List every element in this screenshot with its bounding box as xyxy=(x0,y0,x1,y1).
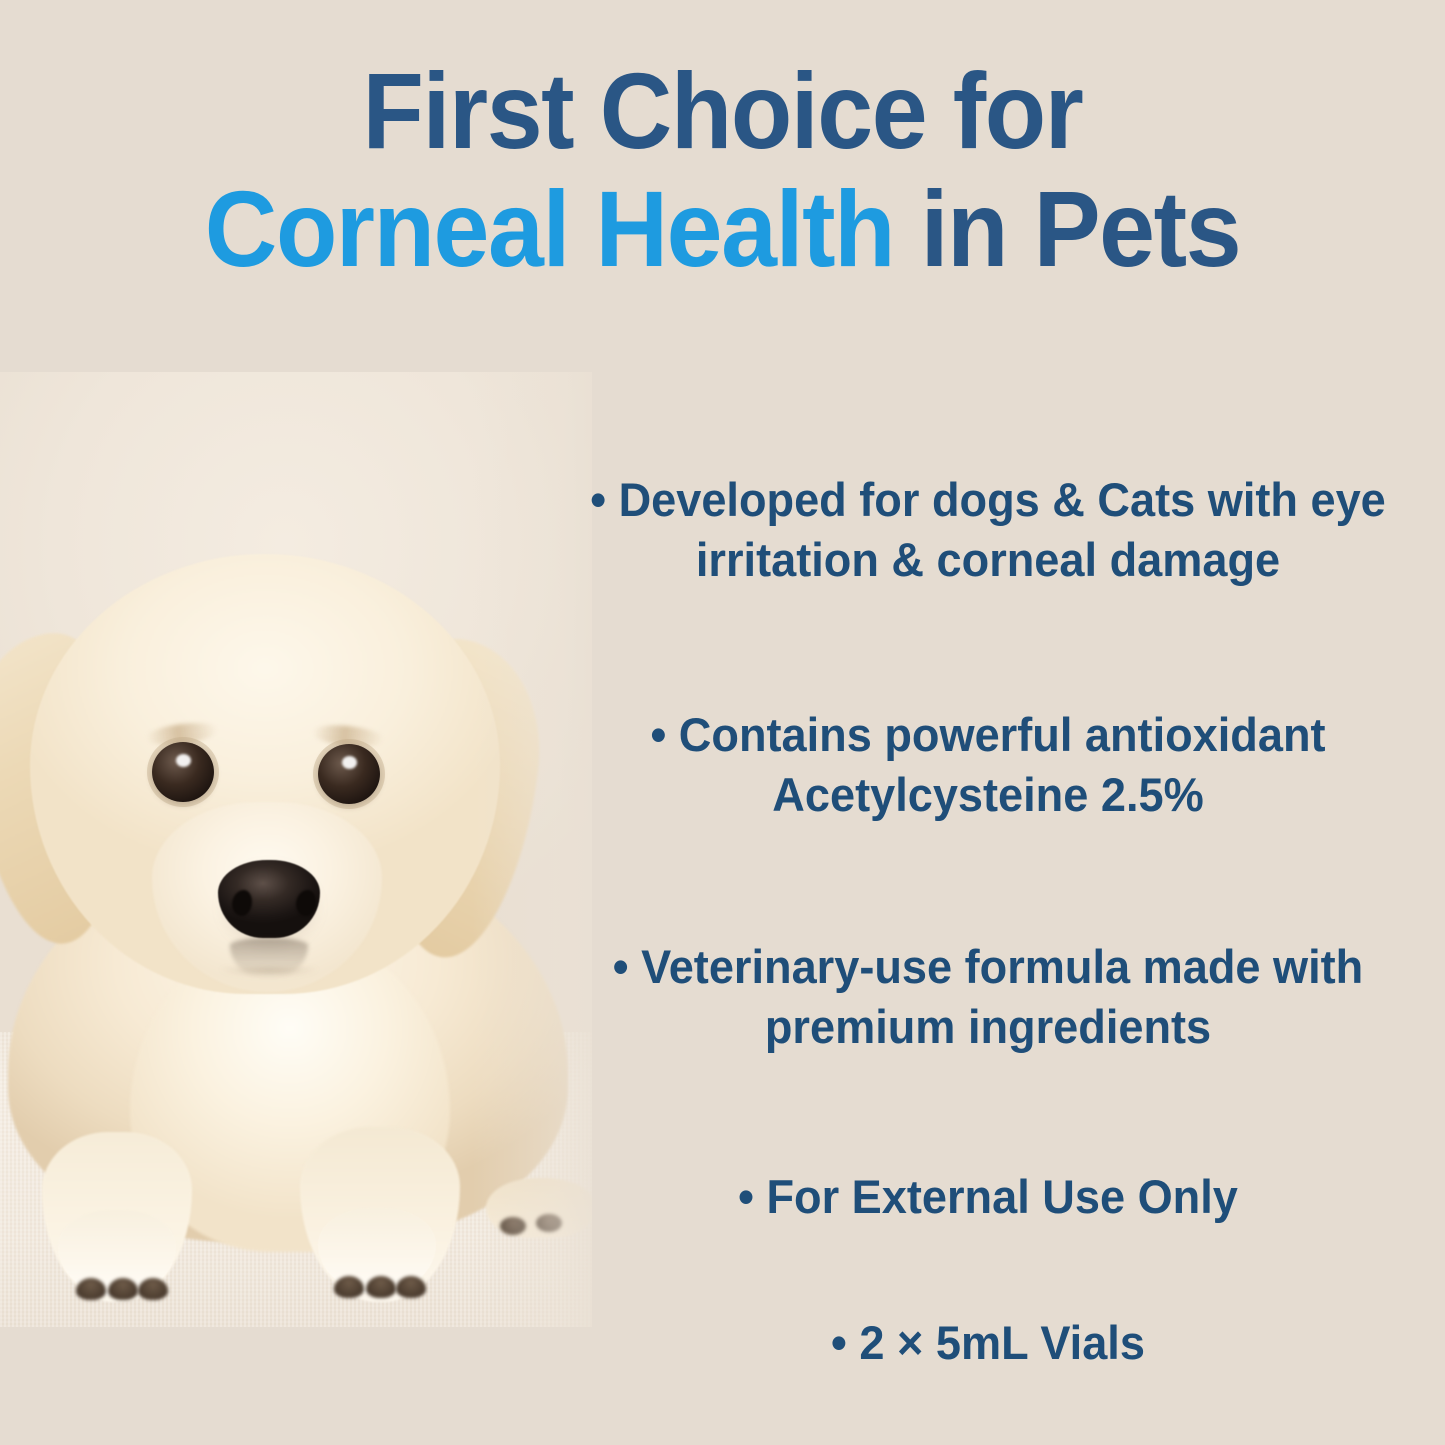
puppy-lip-line xyxy=(196,968,342,994)
paw-toe xyxy=(366,1276,396,1298)
paw-toe xyxy=(108,1278,138,1300)
list-item: • Contains powerful antioxidant Acetylcy… xyxy=(566,705,1411,825)
puppy-hind-toe-1 xyxy=(500,1217,526,1235)
title-line-2: Corneal Health in Pets xyxy=(51,170,1395,288)
puppy-right-paw xyxy=(318,1208,436,1294)
list-item-label: 2 × 5mL Vials xyxy=(859,1316,1145,1369)
bullet-marker: • xyxy=(613,940,629,993)
bullet-marker: • xyxy=(650,708,666,761)
bullet-marker: • xyxy=(590,473,606,526)
list-item-label: Contains powerful antioxidant Acetylcyst… xyxy=(679,708,1326,821)
puppy-photo xyxy=(0,372,592,1327)
puppy-left-eye xyxy=(152,742,214,802)
list-item: • 2 × 5mL Vials xyxy=(566,1313,1411,1373)
paw-toe xyxy=(76,1278,106,1300)
eye-glint xyxy=(176,754,191,767)
paw-toe xyxy=(138,1278,168,1300)
list-item-label: For External Use Only xyxy=(766,1170,1237,1223)
paw-toe xyxy=(396,1276,426,1298)
list-item-label: Developed for dogs & Cats with eye irrit… xyxy=(619,473,1386,586)
puppy-right-eye xyxy=(318,744,380,804)
title-line-1: First Choice for xyxy=(51,52,1395,170)
feature-list: • Developed for dogs & Cats with eye irr… xyxy=(548,470,1428,1373)
list-item: • Developed for dogs & Cats with eye irr… xyxy=(566,470,1411,590)
eye-glint xyxy=(342,756,357,769)
title-highlight: Corneal Health xyxy=(205,168,894,289)
page-title: First Choice for Corneal Health in Pets xyxy=(0,52,1445,288)
list-item: • Veterinary-use formula made with premi… xyxy=(566,937,1411,1057)
list-item: • For External Use Only xyxy=(566,1167,1411,1227)
bullet-marker: • xyxy=(738,1170,754,1223)
paw-toe xyxy=(334,1276,364,1298)
title-suffix: in Pets xyxy=(894,168,1240,289)
bullet-marker: • xyxy=(831,1316,847,1369)
list-item-label: Veterinary-use formula made with premium… xyxy=(641,940,1363,1053)
product-feature-card: First Choice for Corneal Health in Pets xyxy=(0,0,1445,1445)
